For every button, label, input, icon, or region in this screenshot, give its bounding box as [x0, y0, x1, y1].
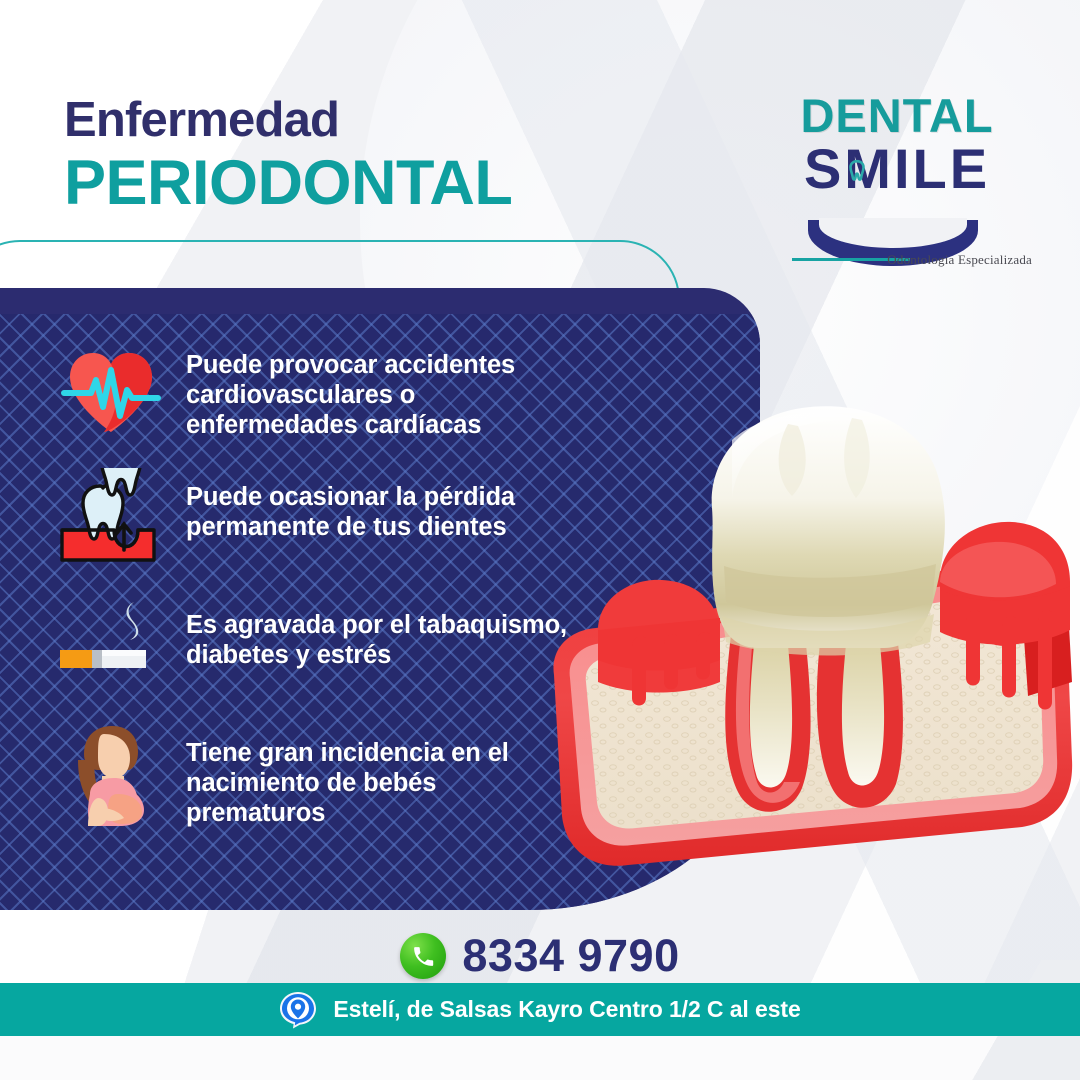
logo-word-smile: SMILE [768, 141, 1026, 197]
address-bar: Estelí, de Salsas Kayro Centro 1/2 C al … [0, 983, 1080, 1036]
tooth-gum-cross-section-illustration [536, 330, 1080, 890]
benefits-list: Puede provocar accidentes cardiovascular… [58, 340, 578, 852]
contact-phone-row[interactable]: 8334 9790 [0, 930, 1080, 982]
brand-logo[interactable]: DENTAL SMILE Odontologia Especializada [768, 92, 1026, 267]
list-item-label: Es agravada por el tabaquismo, diabetes … [186, 596, 578, 670]
logo-word-dental: DENTAL [768, 92, 1026, 139]
poster-canvas: Enfermedad PERIODONTAL DENTAL SMILE Odon… [0, 0, 1080, 1080]
address-text: Estelí, de Salsas Kayro Centro 1/2 C al … [333, 996, 800, 1023]
phone-circle-icon[interactable] [400, 933, 446, 979]
list-item: Tiene gran incidencia en el nacimiento d… [58, 724, 578, 828]
cigarette-icon [58, 596, 164, 700]
page-title: Enfermedad PERIODONTAL [64, 96, 512, 217]
list-item-label: Tiene gran incidencia en el nacimiento d… [186, 724, 578, 828]
tooth-loss-icon [58, 468, 164, 572]
list-item-label: Puede provocar accidentes cardiovascular… [186, 340, 578, 440]
list-item: Puede provocar accidentes cardiovascular… [58, 340, 578, 444]
list-item: Puede ocasionar la pérdida permanente de… [58, 468, 578, 572]
logo-tagline: Odontologia Especializada [856, 252, 1032, 268]
title-line-secondary: PERIODONTAL [64, 149, 512, 217]
pregnant-woman-icon [58, 724, 164, 828]
location-pin-icon [279, 991, 317, 1029]
tooth-icon [844, 159, 870, 185]
title-line-primary: Enfermedad [64, 96, 512, 145]
list-item-label: Puede ocasionar la pérdida permanente de… [186, 468, 578, 542]
phone-number[interactable]: 8334 9790 [462, 930, 679, 982]
list-item: Es agravada por el tabaquismo, diabetes … [58, 596, 578, 700]
logo-word-smile-wrap: SMILE [768, 141, 1026, 205]
heart-heartbeat-icon [58, 340, 164, 444]
